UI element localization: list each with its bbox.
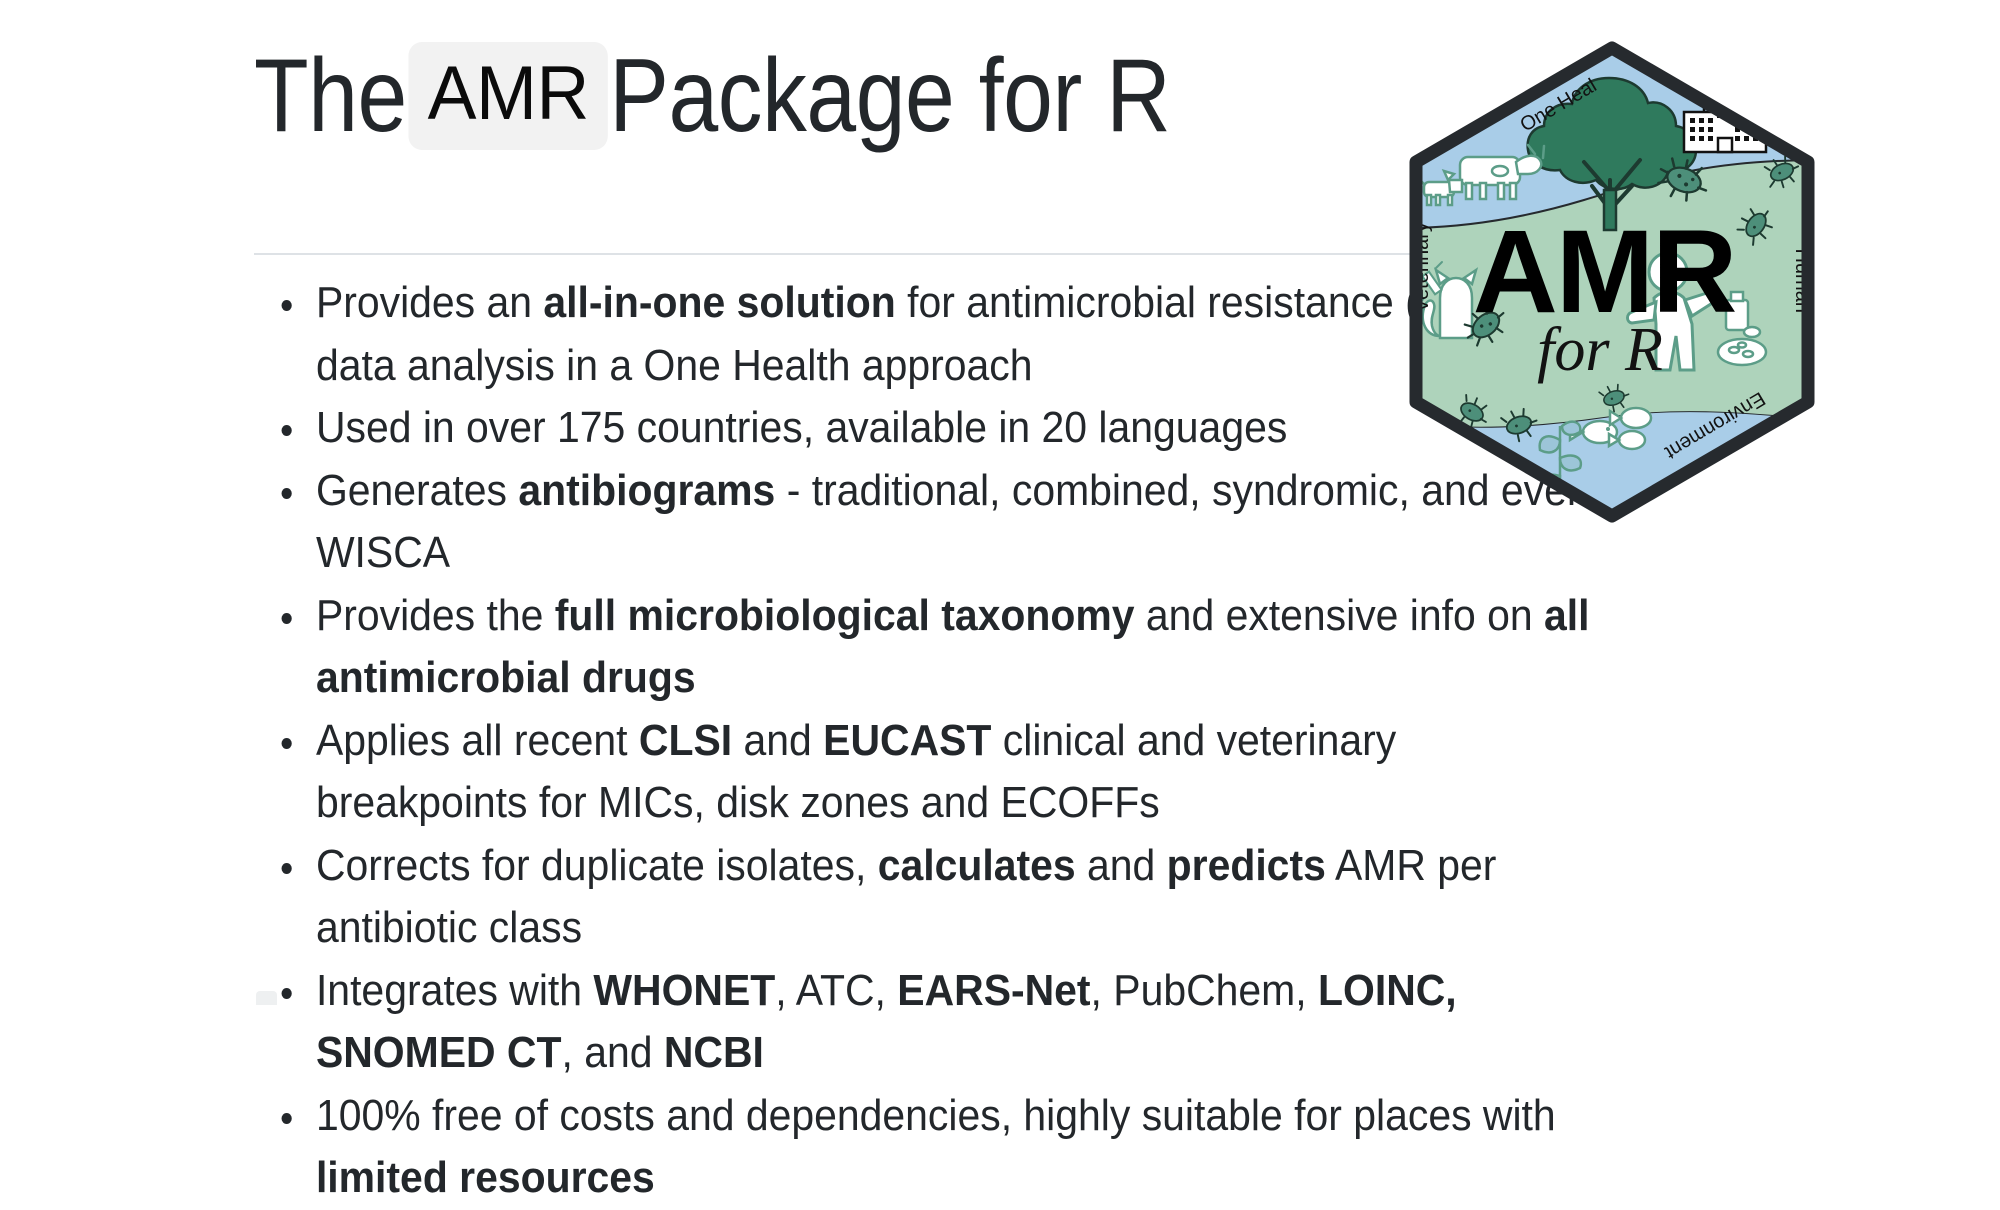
title-suffix: Package for R bbox=[609, 34, 1170, 159]
page-title: The AMR Package for R bbox=[254, 34, 1596, 159]
feature-bullet-item: Generates antibiograms - traditional, co… bbox=[262, 460, 1592, 585]
bullet-emphasis: predicts bbox=[1167, 841, 1326, 890]
bullet-emphasis: NCBI bbox=[664, 1028, 764, 1077]
bullet-text: Applies all recent bbox=[316, 716, 639, 765]
bullet-text: 100% free of costs and dependencies, hig… bbox=[316, 1091, 1556, 1140]
bullet-emphasis: full microbiological taxonomy bbox=[555, 591, 1135, 640]
bullet-emphasis: WHONET bbox=[593, 966, 775, 1015]
hex-scene: AMR for R One Health Veterinary Human En… bbox=[1404, 40, 1820, 524]
bullet-emphasis: limited resources bbox=[316, 1153, 655, 1202]
bullet-text: , and bbox=[561, 1028, 663, 1077]
title-prefix: The bbox=[254, 34, 407, 159]
feature-bullet-item: Provides an all-in-one solution for anti… bbox=[262, 272, 1592, 397]
title-code-badge: AMR bbox=[408, 42, 608, 150]
bullet-text: , ATC, bbox=[775, 966, 897, 1015]
feature-bullet-item: Used in over 175 countries, available in… bbox=[262, 397, 1592, 460]
feature-bullet-item: 100% free of costs and dependencies, hig… bbox=[262, 1085, 1592, 1210]
bullet-text: and bbox=[1076, 841, 1167, 890]
feature-bullet-item: Applies all recent CLSI and EUCAST clini… bbox=[262, 710, 1592, 835]
bullet-text: Integrates with bbox=[316, 966, 593, 1015]
bullet-text: Used in over 175 countries, available in… bbox=[316, 403, 1287, 452]
next-code-badge-stub bbox=[256, 991, 277, 1005]
bullet-text: Provides an bbox=[316, 278, 543, 327]
bullet-emphasis: EUCAST bbox=[823, 716, 991, 765]
logo-subtitle: for R bbox=[1537, 316, 1663, 384]
bullet-text: , PubChem, bbox=[1091, 966, 1318, 1015]
petri-dish-icon bbox=[1718, 339, 1766, 365]
bullet-text: Provides the bbox=[316, 591, 555, 640]
bullet-text: and bbox=[732, 716, 823, 765]
feature-bullet-item: Integrates with WHONET, ATC, EARS-Net, P… bbox=[262, 960, 1592, 1085]
bullet-text: and extensive info on bbox=[1135, 591, 1544, 640]
feature-bullet-item: Provides the full microbiological taxono… bbox=[262, 585, 1592, 710]
feature-bullet-item: Corrects for duplicate isolates, calcula… bbox=[262, 835, 1592, 960]
bullet-emphasis: calculates bbox=[878, 841, 1076, 890]
bullet-text: Generates bbox=[316, 466, 518, 515]
bullet-emphasis: antibiograms bbox=[518, 466, 775, 515]
bullet-emphasis: all-in-one solution bbox=[543, 278, 895, 327]
slide: The AMR Package for R Provides an all-in… bbox=[0, 0, 2000, 1000]
bullet-text: Corrects for duplicate isolates, bbox=[316, 841, 878, 890]
bullet-emphasis: EARS-Net bbox=[897, 966, 1090, 1015]
bullet-emphasis: CLSI bbox=[639, 716, 732, 765]
amr-hex-logo: AMR for R One Health Veterinary Human En… bbox=[1404, 40, 1820, 524]
